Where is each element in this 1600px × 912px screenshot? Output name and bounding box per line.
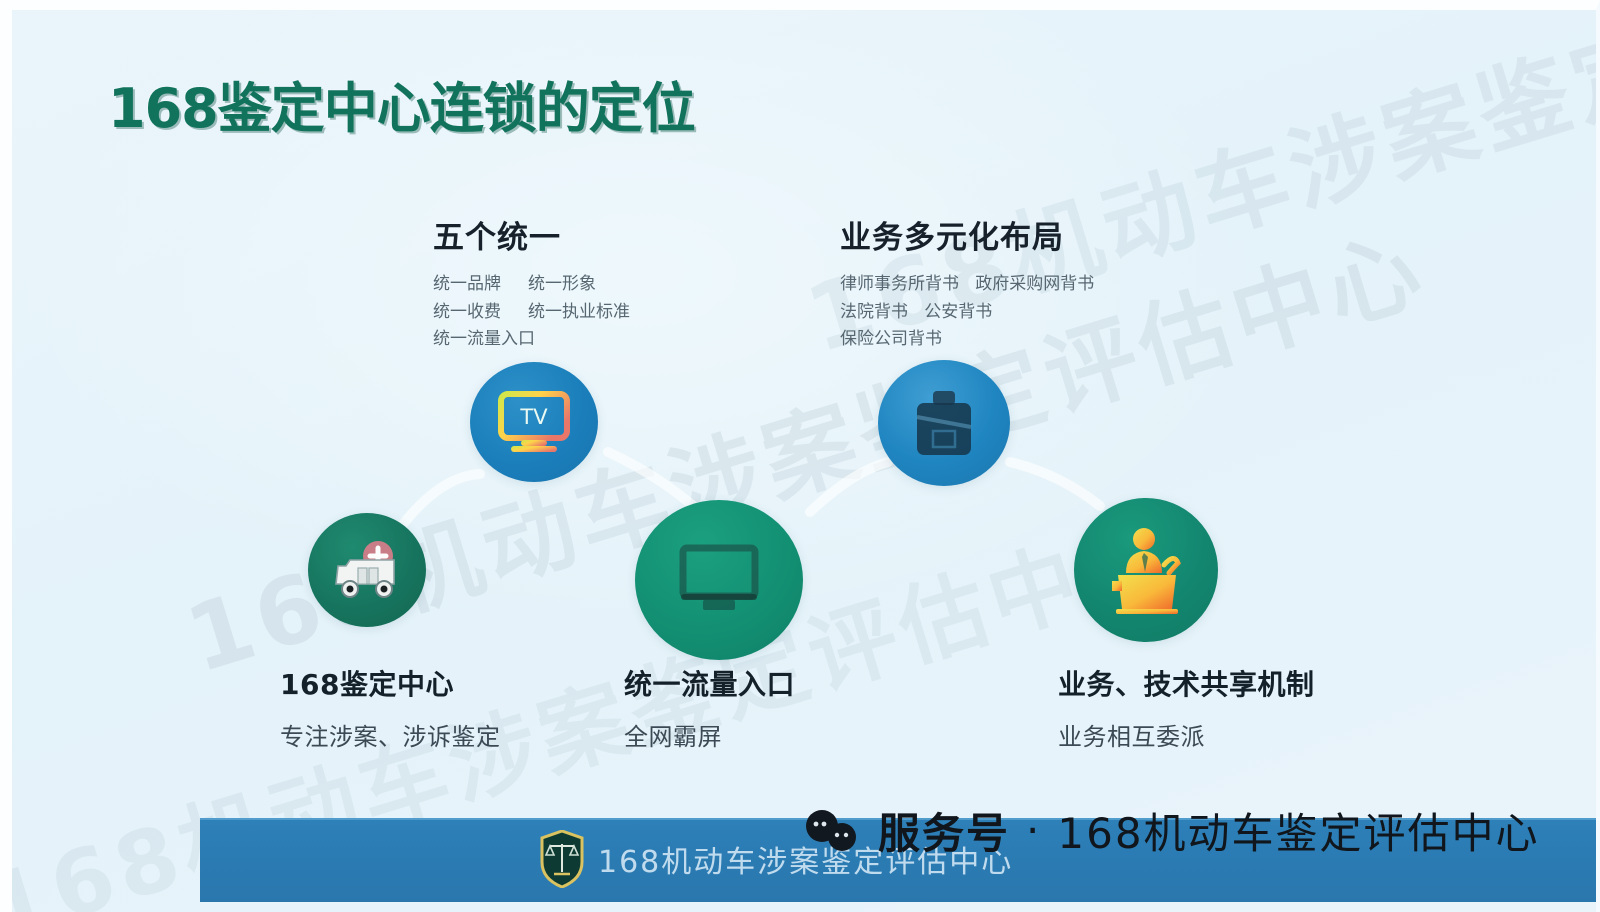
block-line: 法院背书 公安背书 bbox=[840, 299, 1094, 327]
monitor-icon bbox=[677, 544, 761, 616]
block-line: 统一流量入口 bbox=[433, 326, 630, 354]
shield-scales-icon bbox=[540, 830, 584, 888]
chat-bubbles-icon bbox=[800, 810, 862, 852]
overlay-separator: · bbox=[1026, 806, 1041, 855]
tv-icon: TV bbox=[497, 388, 571, 456]
monitor-circle bbox=[635, 500, 803, 660]
overlay-prefix: 服务号 bbox=[878, 800, 1010, 861]
speaker-podium-icon bbox=[1100, 525, 1192, 615]
label-desc: 专注涉案、涉诉鉴定 bbox=[280, 717, 501, 752]
ambulance-circle bbox=[308, 513, 426, 627]
block-heading: 五个统一 bbox=[433, 212, 630, 257]
briefcase-circle bbox=[878, 360, 1010, 486]
briefcase-icon bbox=[909, 387, 979, 459]
presentation-slide: 168机动车涉案鉴定评估中心 168机动车涉案鉴定评估中心 168机动车涉案鉴定… bbox=[0, 0, 1600, 912]
page-title: 168鉴定中心连锁的定位 bbox=[108, 64, 695, 143]
block-line: 统一品牌 统一形象 bbox=[433, 271, 630, 299]
five-unifications-block: 五个统一 统一品牌 统一形象 统一收费 统一执业标准 统一流量入口 bbox=[433, 212, 630, 354]
ambulance-icon bbox=[328, 540, 406, 600]
block-line: 律师事务所背书 政府采购网背书 bbox=[840, 271, 1094, 299]
label-group-sharing-mechanism: 业务、技术共享机制 业务相互委派 bbox=[1058, 663, 1315, 752]
label-group-168-center: 168鉴定中心 专注涉案、涉诉鉴定 bbox=[280, 663, 501, 752]
block-heading: 业务多元化布局 bbox=[840, 212, 1094, 257]
svg-text:TV: TV bbox=[519, 405, 548, 429]
label-title: 168鉴定中心 bbox=[280, 663, 501, 703]
block-line: 保险公司背书 bbox=[840, 326, 1094, 354]
podium-circle bbox=[1074, 498, 1218, 642]
business-diversification-block: 业务多元化布局 律师事务所背书 政府采购网背书 法院背书 公安背书 保险公司背书 bbox=[840, 212, 1094, 354]
label-group-traffic-entry: 统一流量入口 全网霸屏 bbox=[624, 663, 795, 752]
label-desc: 全网霸屏 bbox=[624, 717, 795, 752]
overlay-caption: 服务号 · 168机动车鉴定评估中心 bbox=[800, 800, 1540, 861]
tv-circle: TV bbox=[470, 362, 598, 482]
label-title: 统一流量入口 bbox=[624, 663, 795, 703]
overlay-account-name: 168机动车鉴定评估中心 bbox=[1057, 800, 1539, 861]
label-title: 业务、技术共享机制 bbox=[1058, 663, 1315, 703]
label-desc: 业务相互委派 bbox=[1058, 717, 1315, 752]
block-line: 统一收费 统一执业标准 bbox=[433, 299, 630, 327]
